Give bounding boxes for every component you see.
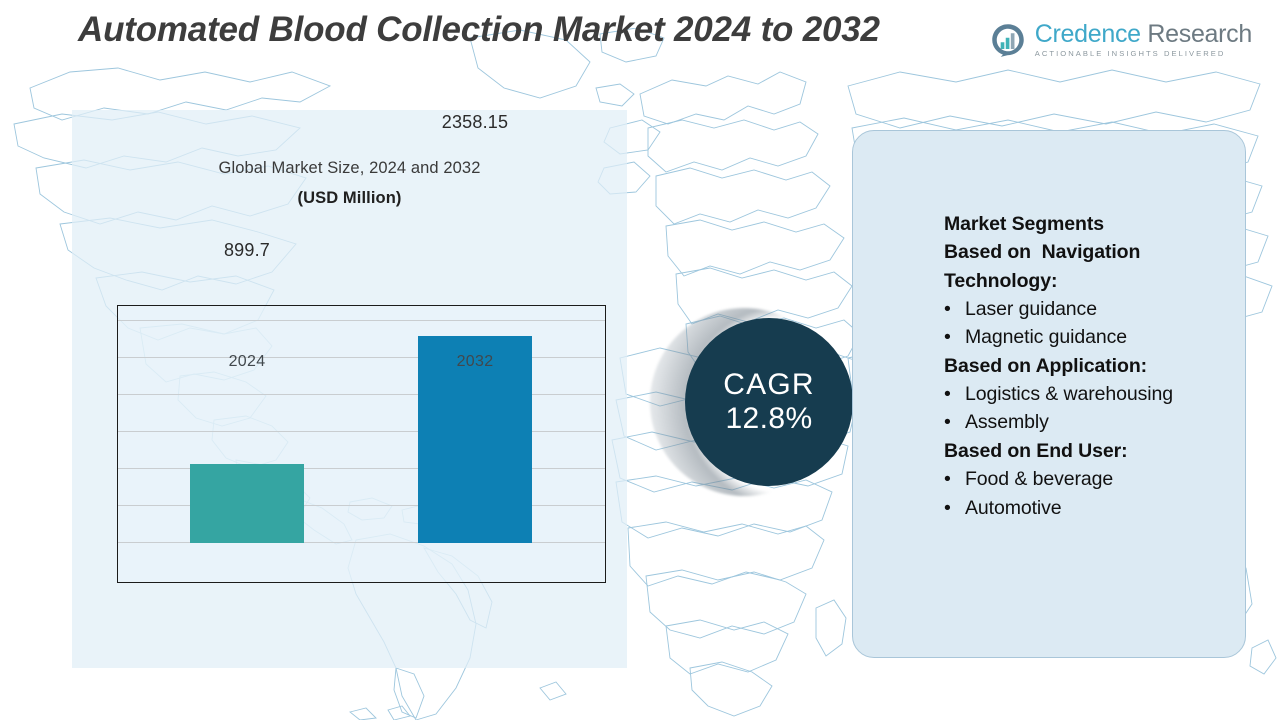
segment-item-label: Assembly <box>965 408 1234 436</box>
logo-brand-secondary: Research <box>1141 20 1252 48</box>
chart-gridline <box>118 320 605 321</box>
segment-group-heading: Market Segments Based on Navigation Tech… <box>944 210 1234 295</box>
bullet-icon: • <box>944 380 955 408</box>
segment-list-item: •Logistics & warehousing <box>944 380 1234 408</box>
segment-group-heading: Based on End User: <box>944 437 1234 465</box>
cagr-badge: CAGR 12.8% <box>685 318 853 486</box>
cagr-label: CAGR <box>723 368 814 402</box>
cagr-value: 12.8% <box>725 402 812 436</box>
bar-chart-circle-icon <box>990 22 1026 58</box>
chart-subheading: (USD Million) <box>72 189 627 208</box>
market-segments-list: Market Segments Based on Navigation Tech… <box>944 210 1234 522</box>
chart-heading: Global Market Size, 2024 and 2032 <box>72 159 627 178</box>
bullet-icon: • <box>944 494 955 522</box>
segment-list-item: •Automotive <box>944 494 1234 522</box>
segment-item-label: Automotive <box>965 494 1234 522</box>
segment-list-item: •Laser guidance <box>944 295 1234 323</box>
infographic-page: Automated Blood Collection Market 2024 t… <box>0 0 1280 720</box>
credence-research-logo: Credence Research ACTIONABLE INSIGHTS DE… <box>990 22 1252 58</box>
bullet-icon: • <box>944 295 955 323</box>
bullet-icon: • <box>944 408 955 436</box>
segment-list-item: •Magnetic guidance <box>944 323 1234 351</box>
chart-bar-value-label: 899.7 <box>167 240 327 261</box>
bullet-icon: • <box>944 323 955 351</box>
segment-item-label: Food & beverage <box>965 465 1234 493</box>
logo-wordmark: Credence Research <box>1035 22 1252 47</box>
segment-item-label: Laser guidance <box>965 295 1234 323</box>
page-title: Automated Blood Collection Market 2024 t… <box>78 8 1008 52</box>
chart-category-label: 2024 <box>187 353 307 371</box>
segment-list-item: •Food & beverage <box>944 465 1234 493</box>
chart-bar <box>190 464 304 543</box>
segment-item-label: Magnetic guidance <box>965 323 1234 351</box>
segment-list-item: •Assembly <box>944 408 1234 436</box>
segment-group-heading: Based on Application: <box>944 352 1234 380</box>
chart-bar-value-label: 2358.15 <box>395 112 555 133</box>
chart-category-label: 2032 <box>415 353 535 371</box>
bullet-icon: • <box>944 465 955 493</box>
logo-tagline: ACTIONABLE INSIGHTS DELIVERED <box>1035 50 1252 58</box>
logo-brand-primary: Credence <box>1035 20 1141 48</box>
logo-text-group: Credence Research ACTIONABLE INSIGHTS DE… <box>1035 22 1252 58</box>
segment-item-label: Logistics & warehousing <box>965 380 1234 408</box>
bar-chart: 899.720242358.152032 <box>117 305 606 583</box>
